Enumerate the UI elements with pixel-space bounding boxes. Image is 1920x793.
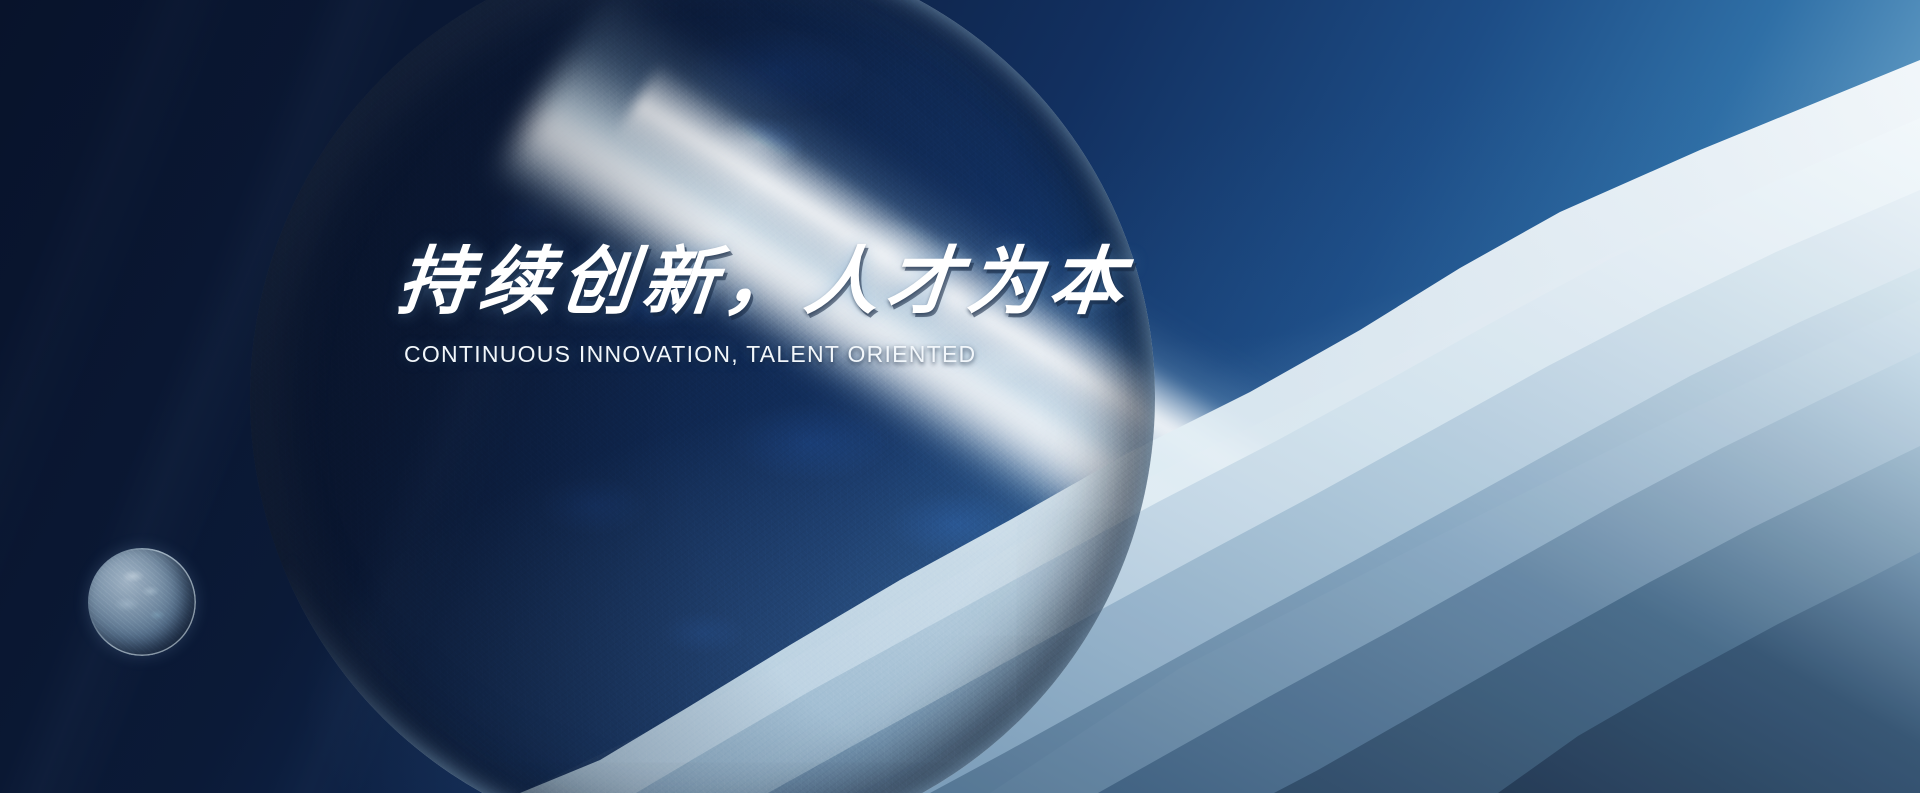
small-moon [88, 548, 196, 656]
planet-atmosphere-rim [250, 0, 1155, 793]
large-planet [250, 0, 1155, 793]
moon-rim-light [88, 548, 196, 656]
banner-hero: 持续创新，人才为本 CONTINUOUS INNOVATION, TALENT … [0, 0, 1920, 793]
